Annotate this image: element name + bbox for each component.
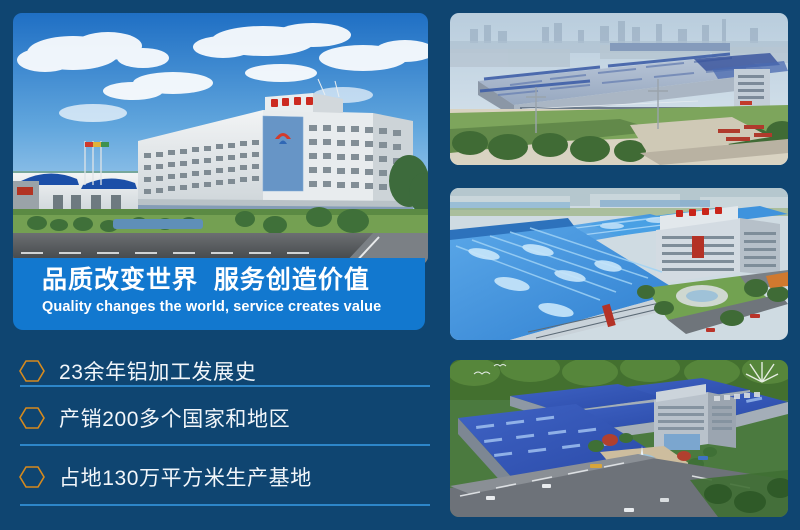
aerial-factory-photo (450, 13, 788, 165)
hexagon-icon (19, 406, 45, 430)
industrial-park-rendering (450, 360, 788, 517)
feature-label: 占地130万平方米生产基地 (59, 462, 312, 492)
feature-item-site-area[interactable]: 占地130万平方米生产基地 (13, 450, 430, 504)
slogan-english: Quality changes the world, service creat… (42, 297, 425, 317)
slogan-banner: 品质改变世界 服务创造价值 Quality changes the world,… (13, 258, 425, 330)
feature-divider (20, 504, 430, 506)
hexagon-icon (19, 465, 45, 489)
company-headquarters-photo (13, 13, 428, 265)
feature-divider (20, 385, 430, 387)
aerial-plant-photo (450, 188, 788, 340)
hexagon-icon (19, 359, 45, 383)
promo-banner-page: 品质改变世界 服务创造价值 Quality changes the world,… (0, 0, 800, 530)
feature-item-markets[interactable]: 产销200多个国家和地区 (13, 391, 430, 445)
feature-label: 23余年铝加工发展史 (59, 356, 256, 386)
feature-item-history[interactable]: 23余年铝加工发展史 (13, 344, 430, 398)
slogan-chinese: 品质改变世界 服务创造价值 (42, 264, 425, 296)
feature-divider (20, 444, 430, 446)
feature-label: 产销200多个国家和地区 (59, 403, 290, 433)
